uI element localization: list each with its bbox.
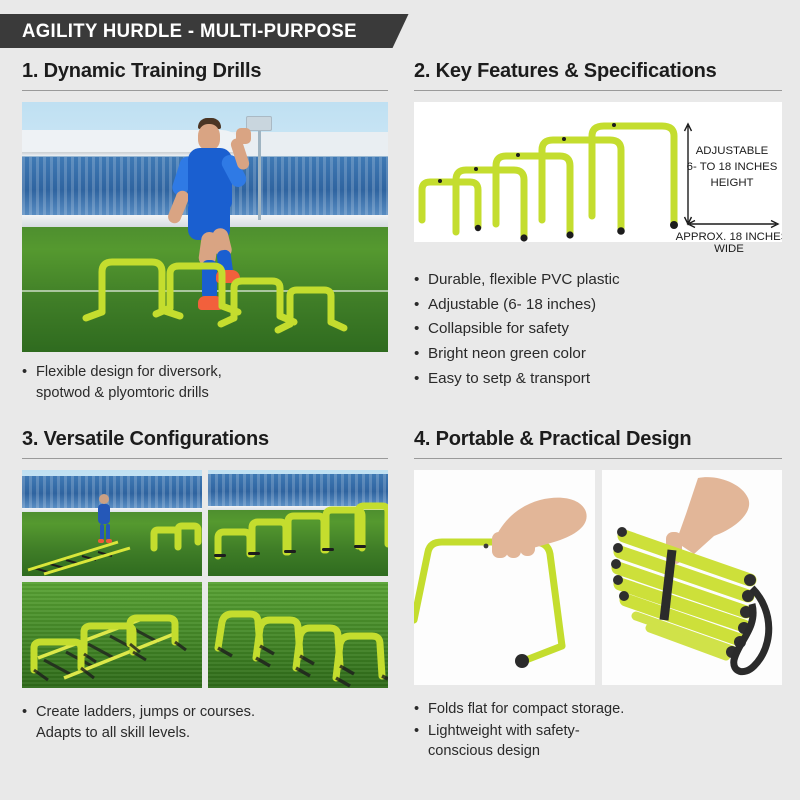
- section-3-caption: • Create ladders, jumps or courses. Adap…: [22, 702, 388, 743]
- bundled-hurdles-with-strap: [602, 470, 782, 685]
- list-item: • Create ladders, jumps or courses. Adap…: [22, 702, 388, 743]
- bullet-dot: •: [414, 721, 428, 762]
- height-label-line-2: 6- TO 18 INCHES: [687, 161, 778, 173]
- list-item: • Collapsible for safety: [414, 317, 782, 341]
- bullet-dot: •: [22, 702, 36, 743]
- list-item: • Folds flat for compact storage.: [414, 699, 782, 720]
- header-banner: AGILITY HURDLE - MULTI-PURPOSE: [0, 14, 409, 48]
- bullet-dot: •: [414, 268, 428, 292]
- four-hurdles: [208, 582, 388, 688]
- photo-row-of-hurdles: [208, 470, 388, 576]
- section-dynamic-training-drills: 1. Dynamic Training Drills: [22, 60, 388, 420]
- list-item: • Adjustable (6- 18 inches): [414, 293, 782, 317]
- photo-four-hurdles-in-line: [208, 582, 388, 688]
- section-2-heading: 2. Key Features & Specifications: [414, 60, 782, 90]
- bullet-text: Create ladders, jumps or courses. Adapts…: [36, 702, 388, 743]
- list-item: • Durable, flexible PVC plastic: [414, 268, 782, 292]
- section-1-rule: [22, 90, 388, 91]
- bullet-text: Easy to setp & transport: [428, 367, 782, 391]
- photo-athlete-jumping-hurdles: [22, 102, 388, 352]
- bullet-dot: •: [414, 699, 428, 720]
- section-1-caption: • Flexible design for diversork, spotwod…: [22, 362, 388, 403]
- list-item: • Bright neon green color: [414, 342, 782, 366]
- section-portable-practical-design: 4. Portable & Practical Design: [414, 428, 782, 788]
- ladder-hurdle-combo: [22, 582, 202, 688]
- bullet-dot: •: [414, 367, 428, 391]
- height-label-line-3: HEIGHT: [710, 177, 753, 189]
- hurdle-row: [208, 470, 388, 576]
- configuration-photo-grid: [22, 470, 388, 688]
- bullet-text: Lightweight with safety- conscious desig…: [428, 721, 782, 762]
- list-item: • Easy to setp & transport: [414, 367, 782, 391]
- section-4-rule: [414, 458, 782, 459]
- bullet-dot: •: [414, 342, 428, 366]
- list-item: • Flexible design for diversork, spotwod…: [22, 362, 388, 403]
- bullet-text: Adjustable (6- 18 inches): [428, 293, 782, 317]
- banner-title: AGILITY HURDLE - MULTI-PURPOSE: [22, 20, 357, 43]
- section-4-caption: • Folds flat for compact storage. • Ligh…: [414, 699, 782, 762]
- hurdles-in-photo: [22, 102, 388, 352]
- section-versatile-configurations: 3. Versatile Configurations: [22, 428, 388, 788]
- bullet-dot: •: [22, 362, 36, 403]
- height-label-line-1: ADJUSTABLE: [696, 145, 769, 157]
- ladder-and-hurdles: [22, 470, 202, 576]
- width-label-line-2: WIDE: [664, 243, 794, 255]
- section-3-rule: [22, 458, 388, 459]
- bullet-dot: •: [414, 293, 428, 317]
- portability-photos: [414, 470, 782, 685]
- section-key-features-specifications: 2. Key Features & Specifications: [414, 60, 782, 420]
- photo-hand-holding-single-hurdle: [414, 470, 595, 685]
- banner-ribbon: AGILITY HURDLE - MULTI-PURPOSE: [0, 14, 409, 48]
- section-4-heading: 4. Portable & Practical Design: [414, 428, 782, 458]
- nested-hurdles-diagram: ADJUSTABLE 6- TO 18 INCHES HEIGHT APPROX…: [414, 102, 782, 242]
- list-item: • Lightweight with safety- conscious des…: [414, 721, 782, 762]
- bullet-text: Bright neon green color: [428, 342, 782, 366]
- bullet-text: Flexible design for diversork, spotwod &…: [36, 362, 388, 403]
- bullet-text: Collapsible for safety: [428, 317, 782, 341]
- photo-hand-carrying-bundle: [602, 470, 783, 685]
- width-label-line-1: APPROX. 18 INCHES: [676, 231, 782, 242]
- bullet-text: Durable, flexible PVC plastic: [428, 268, 782, 292]
- bullet-dot: •: [414, 317, 428, 341]
- bullet-text: Folds flat for compact storage.: [428, 699, 782, 720]
- features-list: • Durable, flexible PVC plastic • Adjust…: [414, 268, 782, 391]
- section-2-rule: [414, 90, 782, 91]
- photo-athlete-agility-ladder: [22, 470, 202, 576]
- section-1-heading: 1. Dynamic Training Drills: [22, 60, 388, 90]
- photo-ladder-and-hurdles-combo: [22, 582, 202, 688]
- single-hurdle-and-hand: [414, 470, 594, 685]
- section-3-heading: 3. Versatile Configurations: [22, 428, 388, 458]
- specification-diagram-panel: ADJUSTABLE 6- TO 18 INCHES HEIGHT APPROX…: [414, 102, 782, 242]
